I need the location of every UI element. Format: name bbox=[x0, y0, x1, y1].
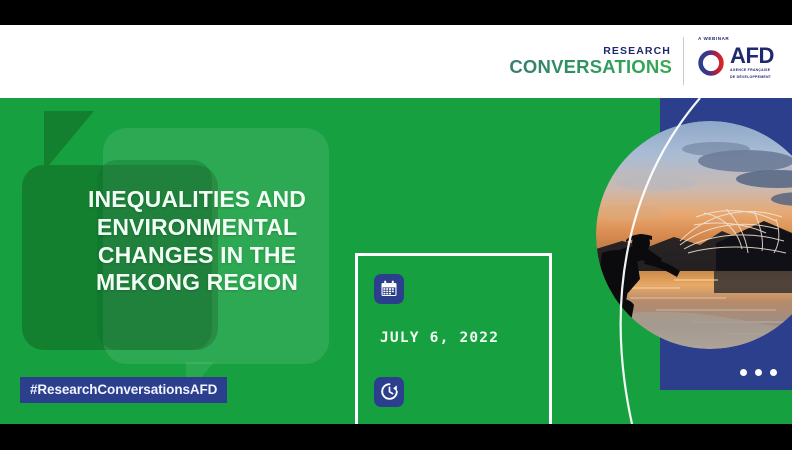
research-conversations-line1: RESEARCH bbox=[603, 46, 671, 57]
afd-tagline-line2: DE DÉVELOPPEMENT bbox=[730, 75, 771, 80]
hashtag-badge: #ResearchConversationsAFD bbox=[20, 377, 227, 403]
letterbox-top bbox=[0, 0, 792, 25]
header-bar: RESEARCH CONVERSATIONS A WEBINAR bbox=[0, 25, 792, 98]
research-conversations-line2: CONVERSATIONS bbox=[509, 58, 672, 77]
afd-ring-icon bbox=[696, 48, 726, 78]
afd-logo-row: AFD AGENCE FRANÇAISE DE DÉVELOPPEMENT bbox=[696, 46, 774, 79]
calendar-icon bbox=[374, 274, 404, 304]
research-conversations-logo: RESEARCH CONVERSATIONS bbox=[509, 46, 683, 76]
main-canvas: INEQUALITIES AND ENVIRONMENTAL CHANGES I… bbox=[0, 98, 792, 424]
clock-icon bbox=[374, 377, 404, 407]
speech-bubble-dark-tail bbox=[44, 111, 94, 171]
letterbox-bottom bbox=[0, 424, 792, 450]
dot-indicator-group bbox=[740, 369, 777, 376]
afd-tagline-line1: AGENCE FRANÇAISE bbox=[730, 68, 770, 73]
dot-indicator-2 bbox=[755, 369, 762, 376]
hero-photo bbox=[596, 121, 792, 349]
logo-divider bbox=[683, 37, 684, 85]
a-webinar-label: A WEBINAR bbox=[698, 36, 729, 41]
dot-indicator-1 bbox=[740, 369, 747, 376]
dot-indicator-3 bbox=[770, 369, 777, 376]
event-details-box: JULY 6, 2022 10:00AM - 11:30AM(CET) bbox=[355, 253, 552, 424]
header-logo-group: RESEARCH CONVERSATIONS A WEBINAR bbox=[509, 31, 774, 91]
banner-stage: RESEARCH CONVERSATIONS A WEBINAR bbox=[0, 0, 792, 450]
afd-logo: A WEBINAR bbox=[696, 42, 774, 79]
event-date: JULY 6, 2022 bbox=[380, 331, 549, 346]
page-title: INEQUALITIES AND ENVIRONMENTAL CHANGES I… bbox=[68, 186, 326, 297]
afd-text-block: AFD AGENCE FRANÇAISE DE DÉVELOPPEMENT bbox=[730, 46, 774, 79]
afd-wordmark: AFD bbox=[730, 46, 774, 66]
